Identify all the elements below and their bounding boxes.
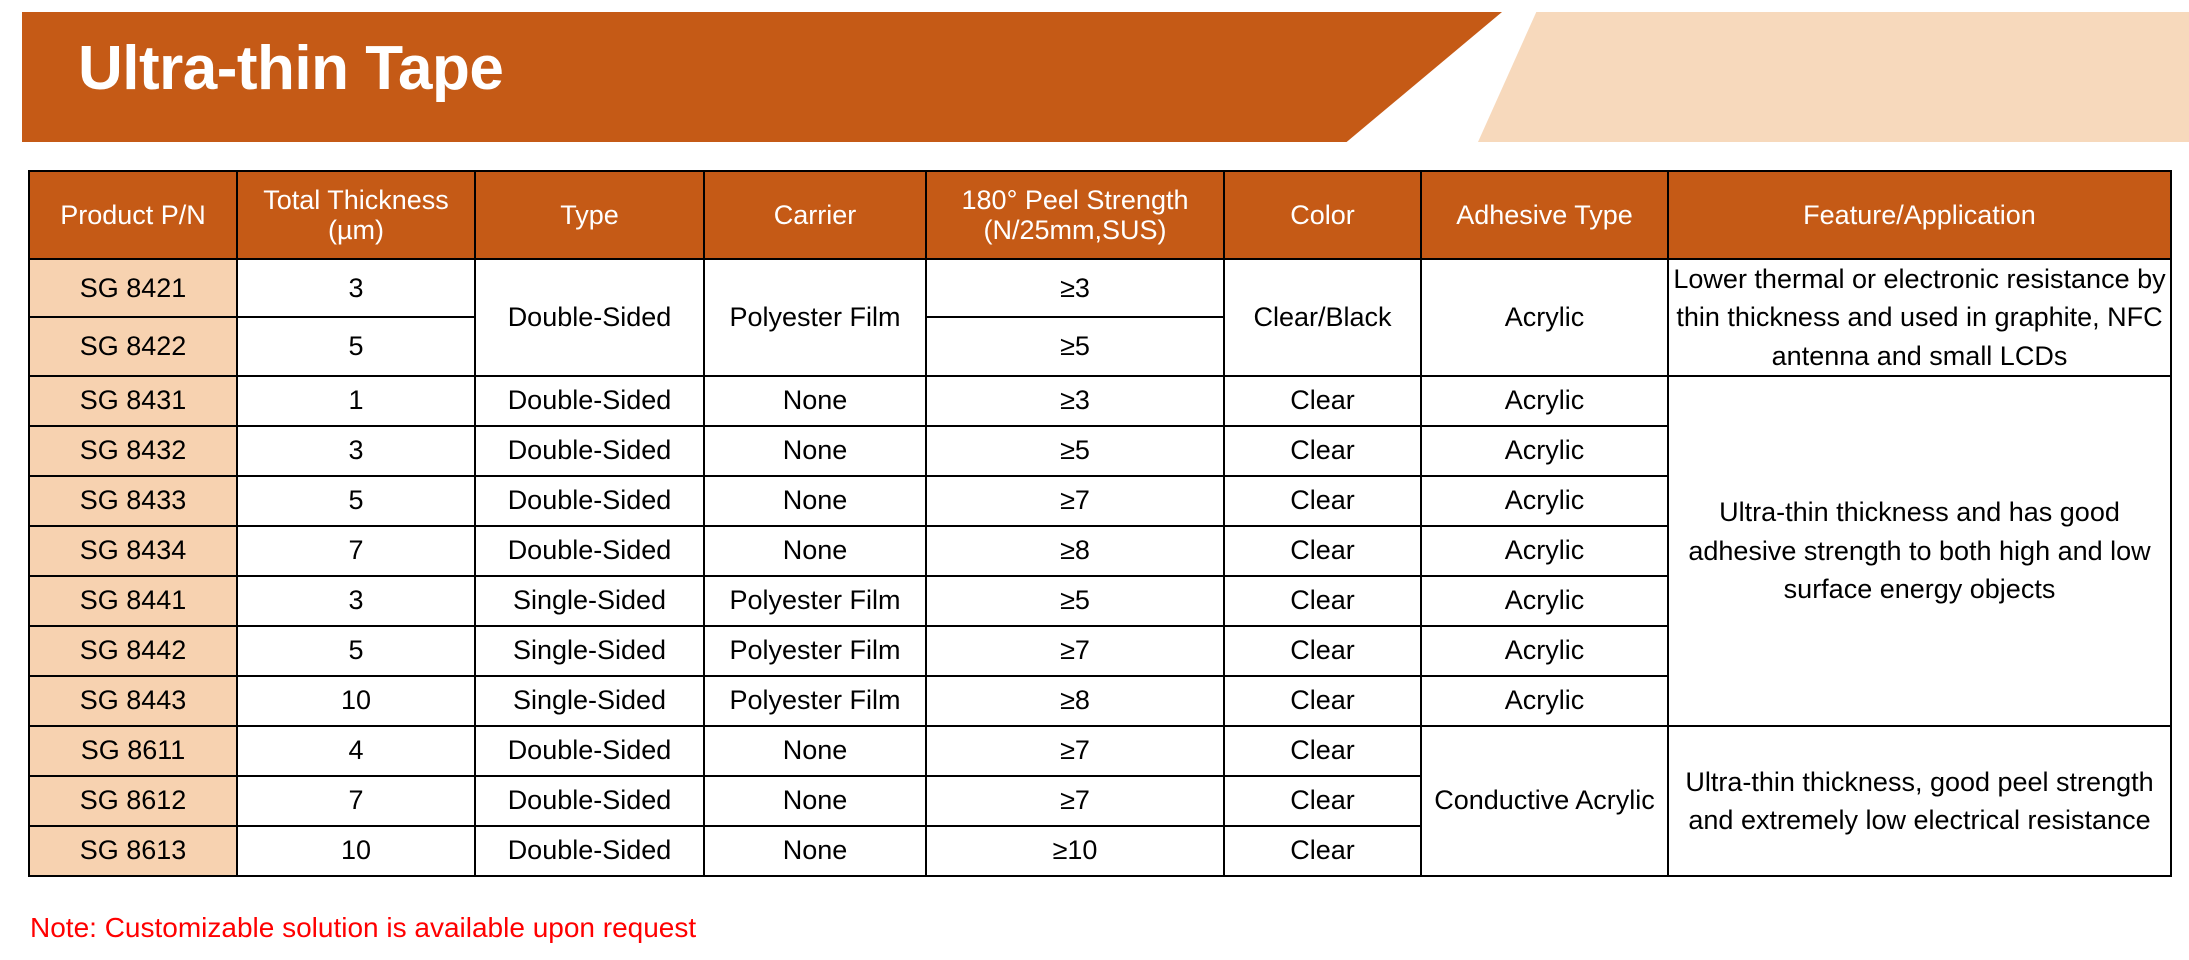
cell-product-pn: SG 8433 [29, 476, 237, 526]
cell-feature: Ultra-thin thickness and has good adhesi… [1668, 376, 2171, 726]
banner-accent-shape [1478, 12, 2189, 142]
column-header-line2: (N/25mm,SUS) [983, 215, 1166, 245]
cell-peel: ≥3 [926, 259, 1224, 317]
cell-thickness: 4 [237, 726, 475, 776]
cell-color: Clear/Black [1224, 259, 1421, 376]
cell-adhesive: Acrylic [1421, 576, 1668, 626]
column-header-type: Type [475, 171, 704, 259]
cell-carrier: Polyester Film [704, 676, 926, 726]
cell-color: Clear [1224, 626, 1421, 676]
cell-color: Clear [1224, 726, 1421, 776]
cell-product-pn: SG 8431 [29, 376, 237, 426]
cell-feature: Lower thermal or electronic resistance b… [1668, 259, 2171, 376]
cell-color: Clear [1224, 576, 1421, 626]
column-header-line1: Adhesive Type [1456, 200, 1633, 230]
column-header-carrier: Carrier [704, 171, 926, 259]
column-header-line1: 180° Peel Strength [962, 185, 1189, 215]
cell-product-pn: SG 8434 [29, 526, 237, 576]
cell-color: Clear [1224, 676, 1421, 726]
cell-type: Double-Sided [475, 526, 704, 576]
cell-peel: ≥5 [926, 317, 1224, 376]
table-body: SG 8421 3 Double-Sided Polyester Film ≥3… [29, 259, 2171, 876]
cell-product-pn: SG 8442 [29, 626, 237, 676]
cell-type: Double-Sided [475, 376, 704, 426]
page-banner: Ultra-thin Tape [0, 12, 2189, 142]
table-row: SG 8611 4 Double-Sided None ≥7 Clear Con… [29, 726, 2171, 776]
cell-carrier: None [704, 826, 926, 876]
cell-thickness: 5 [237, 317, 475, 376]
cell-thickness: 7 [237, 776, 475, 826]
column-header-line1: Product P/N [60, 200, 206, 230]
footer-note: Note: Customizable solution is available… [30, 912, 696, 944]
cell-thickness: 1 [237, 376, 475, 426]
cell-product-pn: SG 8612 [29, 776, 237, 826]
cell-adhesive: Acrylic [1421, 526, 1668, 576]
column-header-line1: Feature/Application [1803, 200, 2036, 230]
cell-peel: ≥8 [926, 676, 1224, 726]
page-title: Ultra-thin Tape [78, 38, 503, 100]
cell-type: Single-Sided [475, 676, 704, 726]
cell-thickness: 10 [237, 676, 475, 726]
cell-adhesive: Acrylic [1421, 426, 1668, 476]
column-header-feature-application: Feature/Application [1668, 171, 2171, 259]
column-header-total-thickness: Total Thickness (µm) [237, 171, 475, 259]
cell-peel: ≥10 [926, 826, 1224, 876]
cell-color: Clear [1224, 776, 1421, 826]
cell-type: Double-Sided [475, 426, 704, 476]
cell-adhesive: Acrylic [1421, 476, 1668, 526]
cell-type: Double-Sided [475, 476, 704, 526]
cell-feature: Ultra-thin thickness, good peel strength… [1668, 726, 2171, 876]
cell-type: Double-Sided [475, 726, 704, 776]
column-header-line1: Color [1290, 200, 1355, 230]
cell-peel: ≥7 [926, 476, 1224, 526]
cell-carrier: None [704, 776, 926, 826]
column-header-line1: Carrier [774, 200, 857, 230]
column-header-line1: Type [560, 200, 619, 230]
cell-type: Double-Sided [475, 826, 704, 876]
product-spec-table: Product P/N Total Thickness (µm) Type Ca… [28, 170, 2172, 877]
cell-color: Clear [1224, 426, 1421, 476]
cell-carrier: None [704, 376, 926, 426]
cell-peel: ≥5 [926, 426, 1224, 476]
cell-carrier: Polyester Film [704, 576, 926, 626]
cell-product-pn: SG 8611 [29, 726, 237, 776]
cell-product-pn: SG 8443 [29, 676, 237, 726]
cell-carrier: None [704, 726, 926, 776]
cell-peel: ≥7 [926, 776, 1224, 826]
column-header-peel-strength: 180° Peel Strength (N/25mm,SUS) [926, 171, 1224, 259]
cell-type: Single-Sided [475, 626, 704, 676]
cell-thickness: 5 [237, 476, 475, 526]
cell-carrier: None [704, 476, 926, 526]
cell-product-pn: SG 8421 [29, 259, 237, 317]
cell-carrier: None [704, 526, 926, 576]
cell-color: Clear [1224, 376, 1421, 426]
table-header: Product P/N Total Thickness (µm) Type Ca… [29, 171, 2171, 259]
cell-type: Double-Sided [475, 776, 704, 826]
cell-carrier: Polyester Film [704, 626, 926, 676]
table-row: SG 8431 1 Double-Sided None ≥3 Clear Acr… [29, 376, 2171, 426]
cell-color: Clear [1224, 826, 1421, 876]
column-header-color: Color [1224, 171, 1421, 259]
cell-adhesive: Acrylic [1421, 626, 1668, 676]
cell-product-pn: SG 8422 [29, 317, 237, 376]
table-row: SG 8421 3 Double-Sided Polyester Film ≥3… [29, 259, 2171, 317]
cell-color: Clear [1224, 526, 1421, 576]
cell-adhesive: Acrylic [1421, 676, 1668, 726]
cell-peel: ≥8 [926, 526, 1224, 576]
cell-adhesive: Acrylic [1421, 259, 1668, 376]
cell-adhesive: Conductive Acrylic [1421, 726, 1668, 876]
cell-color: Clear [1224, 476, 1421, 526]
cell-thickness: 3 [237, 576, 475, 626]
column-header-line1: Total Thickness [263, 185, 449, 215]
cell-type: Single-Sided [475, 576, 704, 626]
cell-peel: ≥7 [926, 626, 1224, 676]
cell-product-pn: SG 8441 [29, 576, 237, 626]
cell-product-pn: SG 8613 [29, 826, 237, 876]
cell-thickness: 5 [237, 626, 475, 676]
cell-peel: ≥5 [926, 576, 1224, 626]
cell-thickness: 3 [237, 259, 475, 317]
cell-product-pn: SG 8432 [29, 426, 237, 476]
cell-thickness: 7 [237, 526, 475, 576]
cell-thickness: 3 [237, 426, 475, 476]
cell-carrier: None [704, 426, 926, 476]
cell-carrier: Polyester Film [704, 259, 926, 376]
cell-peel: ≥3 [926, 376, 1224, 426]
product-spec-table-wrap: Product P/N Total Thickness (µm) Type Ca… [28, 170, 2170, 877]
column-header-line2: (µm) [328, 215, 384, 245]
column-header-adhesive-type: Adhesive Type [1421, 171, 1668, 259]
table-header-row: Product P/N Total Thickness (µm) Type Ca… [29, 171, 2171, 259]
column-header-product-pn: Product P/N [29, 171, 237, 259]
cell-thickness: 10 [237, 826, 475, 876]
cell-type: Double-Sided [475, 259, 704, 376]
cell-adhesive: Acrylic [1421, 376, 1668, 426]
cell-peel: ≥7 [926, 726, 1224, 776]
